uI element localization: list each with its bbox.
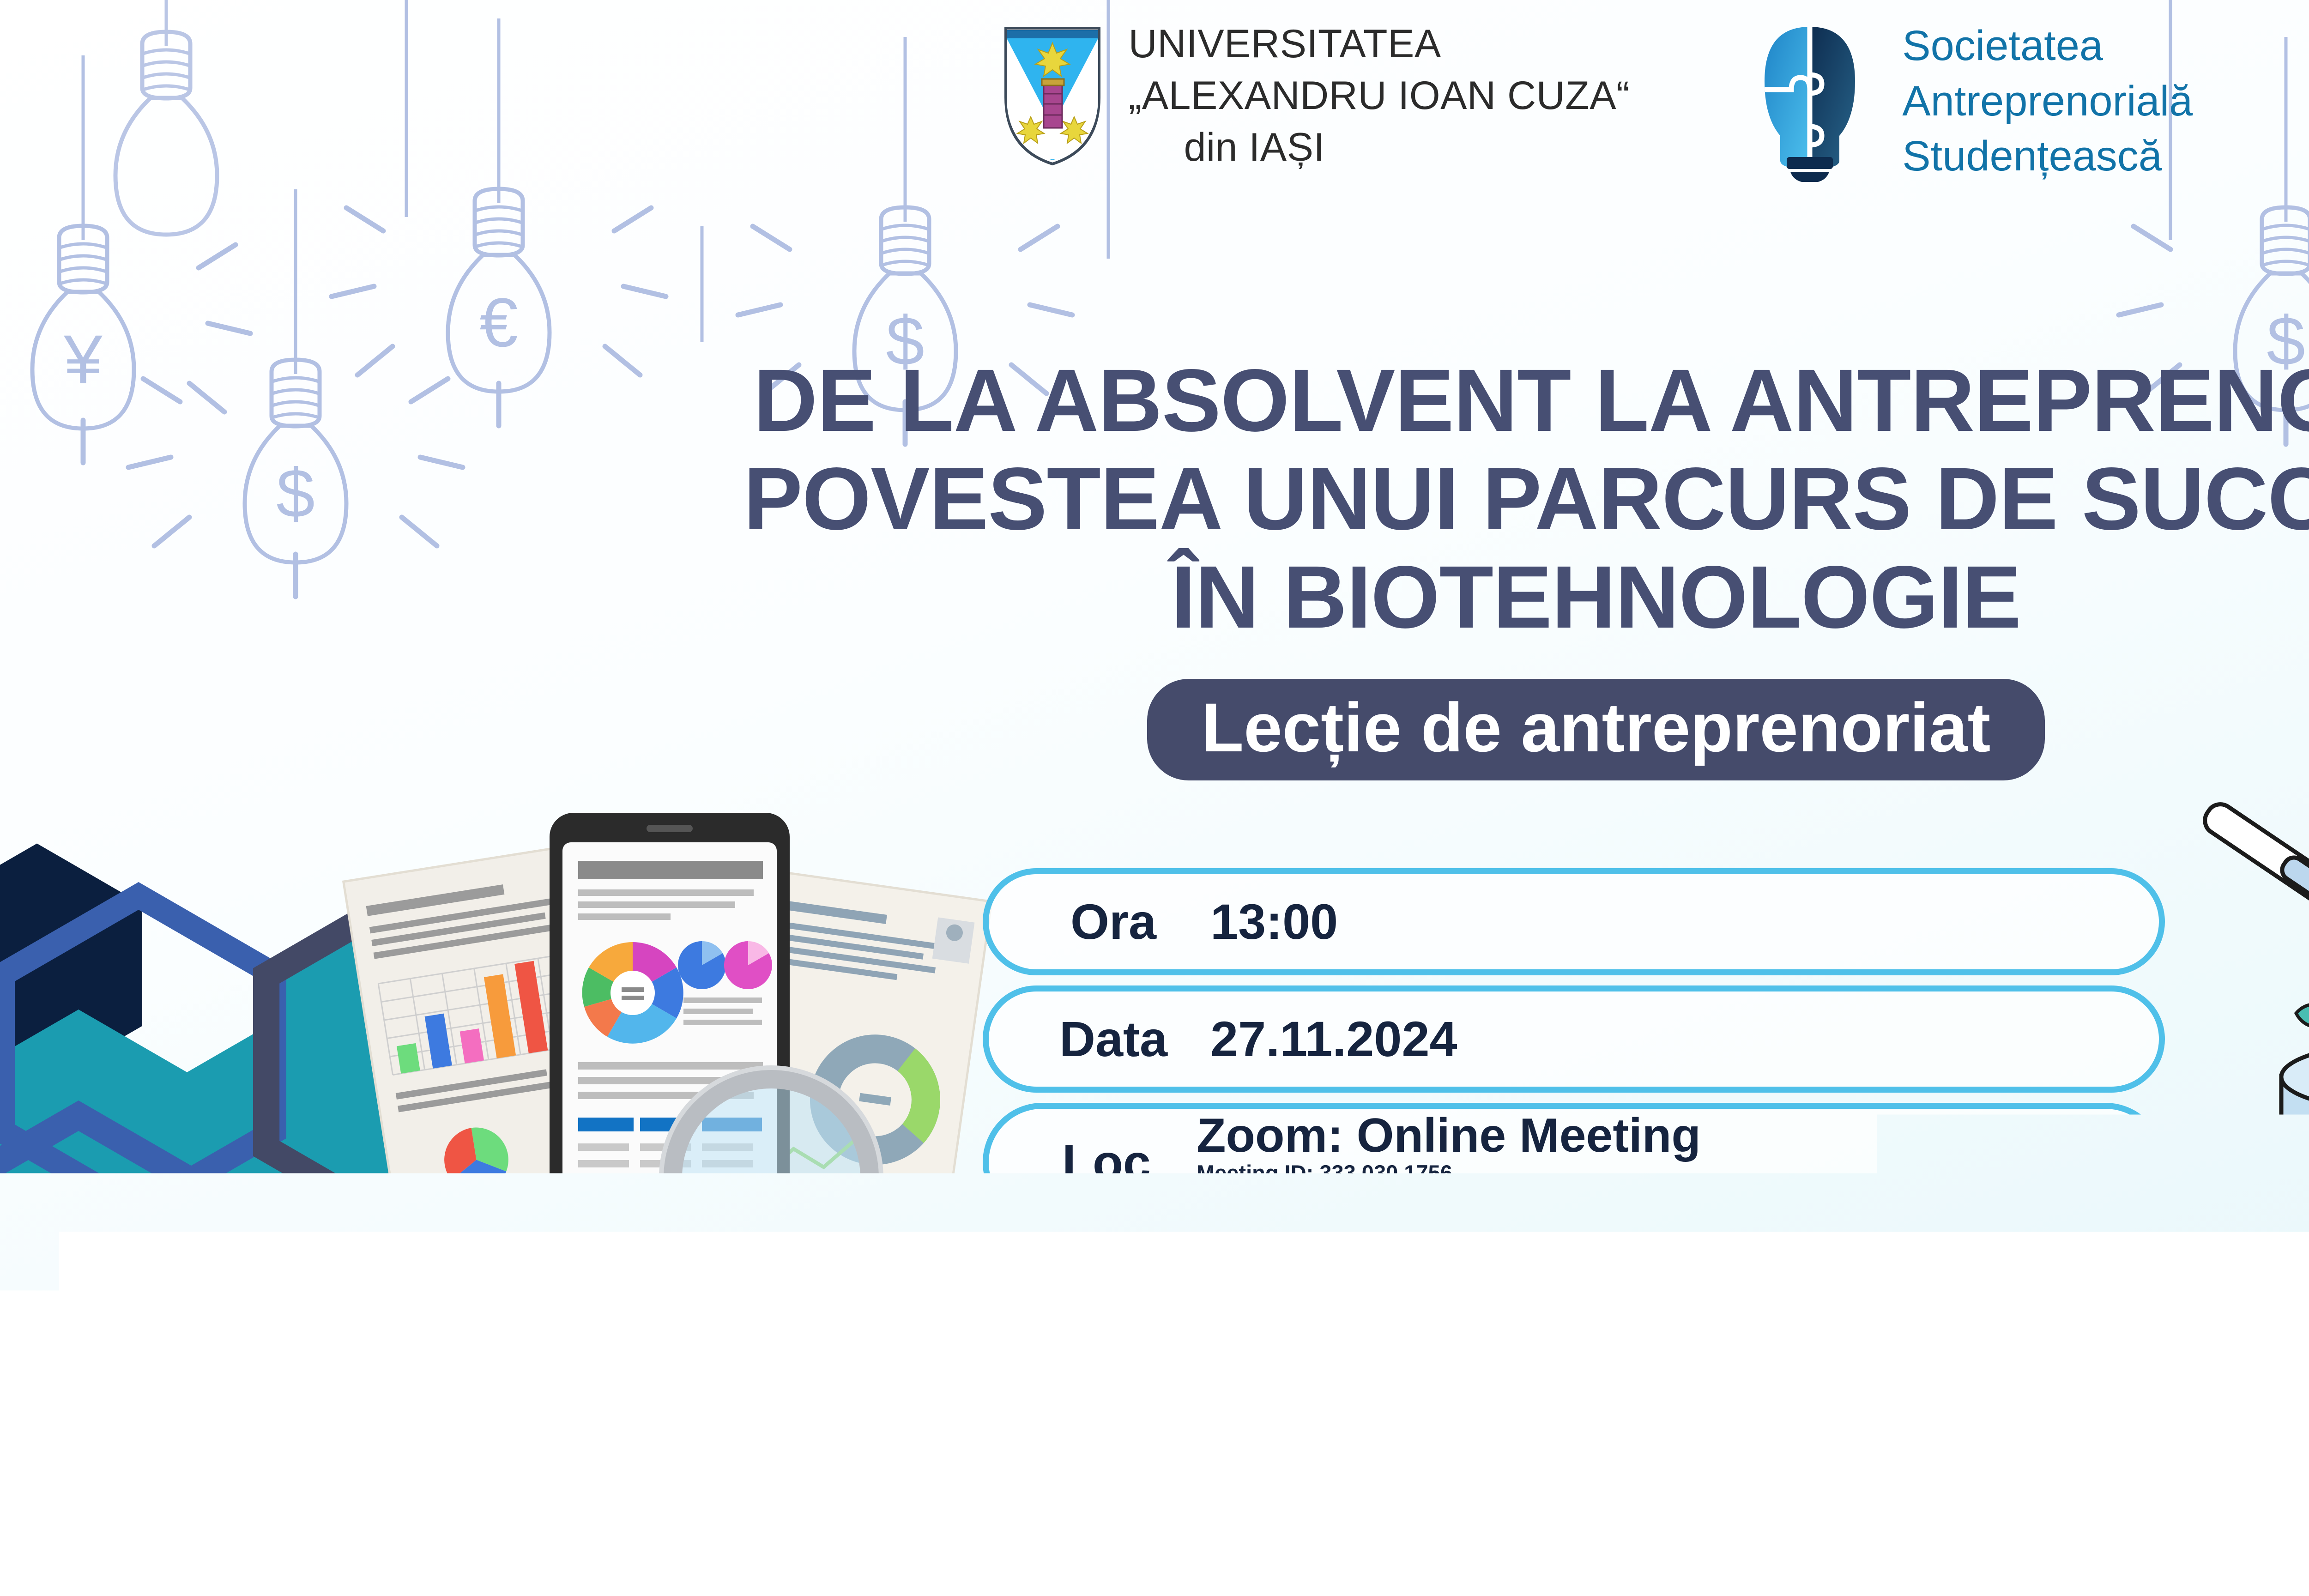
header-logos: UNIVERSITATEA „ALEXANDRU IOAN CUZA“ din … (0, 18, 2309, 184)
contact-location-label: Corpul B al UAIC, etaj 2, sala B 404 (1692, 1522, 2086, 1551)
sas-logo: Societatea Antreprenorială Studențească (1741, 18, 2193, 184)
contact-bar: facebook.com/SAS.UAIC www.sas.uaic.ro (0, 1473, 2309, 1551)
sas-line-2: Antreprenorială (1902, 74, 2193, 129)
project-code: Cod proiect: CNFIS-FDI-2024-F-0422 (0, 1421, 2309, 1458)
detail-label-guest: Invitat (1016, 1260, 1210, 1309)
detail-row-location: Loc Zoom: Online Meeting Meeting ID: 333… (983, 1103, 2165, 1222)
meeting-passcode: Passcode: 00k3Qb (1197, 1186, 1701, 1213)
event-type-badge: Lecție de antreprenoriat (1147, 679, 2045, 780)
business-analytics-illustration (0, 0, 2309, 1596)
contact-facebook[interactable]: facebook.com/SAS.UAIC (1106, 1473, 1380, 1551)
contact-website-label[interactable]: www.sas.uaic.ro (1449, 1522, 1623, 1551)
hanging-lightbulbs-background: ¥ $ € £ $ $ £ ¥ $ € (0, 0, 2309, 1596)
facebook-icon[interactable] (1222, 1473, 1264, 1516)
puzzle-lightbulb-icon (1741, 20, 1879, 182)
meeting-id: Meeting ID: 333 030 1756 (1197, 1160, 1701, 1186)
detail-label-time: Ora (1016, 897, 1210, 947)
detail-row-date: Data 27.11.2024 (983, 985, 2165, 1093)
sas-line-1: Societatea (1902, 18, 2193, 74)
detail-row-time: Ora 13:00 (983, 868, 2165, 975)
detail-value-date: 27.11.2024 (1210, 1011, 1457, 1067)
hexagon-pattern-right (0, 0, 2309, 1596)
detail-row-guest: Invitat Elena Nechita Director executiv … (983, 1232, 2165, 1336)
hexagon-pattern-left (0, 0, 2309, 1596)
detail-value-location: Zoom: Online Meeting (1197, 1112, 1701, 1160)
guest-role: Director executiv M.I.B. T.H. SRL, Iași (1210, 1297, 1593, 1324)
uaic-logo: UNIVERSITATEA „ALEXANDRU IOAN CUZA“ din … (999, 18, 1630, 173)
event-poster: ¥ $ € £ $ $ £ ¥ $ € (0, 0, 2309, 1596)
detail-value-guest: Elena Nechita (1210, 1242, 1550, 1300)
biotech-scientist-illustration (0, 0, 2309, 1596)
globe-icon[interactable] (1515, 1473, 1557, 1516)
detail-label-date: Data (1016, 1014, 1210, 1064)
title-line-1: DE LA ABSOLVENT LA ANTREPRENOR: (0, 351, 2309, 449)
detail-label-location: Loc (1016, 1137, 1197, 1187)
uaic-logo-text: UNIVERSITATEA „ALEXANDRU IOAN CUZA“ din … (1129, 18, 1630, 173)
contact-location: Corpul B al UAIC, etaj 2, sala B 404 (1692, 1473, 2086, 1551)
title-line-2: POVESTEA UNUI PARCURS DE SUCCES (0, 449, 2309, 548)
sas-line-3: Studențească (1902, 129, 2193, 184)
contact-website[interactable]: www.sas.uaic.ro (1449, 1473, 1623, 1551)
title-line-3: ÎN BIOTEHNOLOGIE (0, 548, 2309, 646)
detail-value-time: 13:00 (1210, 894, 1338, 949)
sas-logo-text: Societatea Antreprenorială Studențească (1902, 18, 2193, 184)
uaic-line-3: din IAȘI (1129, 122, 1630, 174)
uaic-line-1: UNIVERSITATEA (1129, 18, 1630, 70)
map-pin-icon (1873, 1473, 1905, 1516)
svg-text:€: € (479, 284, 518, 361)
project-note: Un eveniment organizat în cadrul proiect… (0, 1383, 2309, 1457)
project-note-line-1: Un eveniment organizat în cadrul proiect… (0, 1383, 2309, 1421)
uaic-crest-icon (999, 24, 1106, 168)
contact-facebook-label[interactable]: facebook.com/SAS.UAIC (1106, 1522, 1380, 1551)
uaic-line-2: „ALEXANDRU IOAN CUZA“ (1129, 70, 1630, 122)
page-title: DE LA ABSOLVENT LA ANTREPRENOR: POVESTEA… (0, 351, 2309, 646)
event-details-list: Ora 13:00 Data 27.11.2024 Loc Zoom: Onli… (983, 868, 2165, 1347)
